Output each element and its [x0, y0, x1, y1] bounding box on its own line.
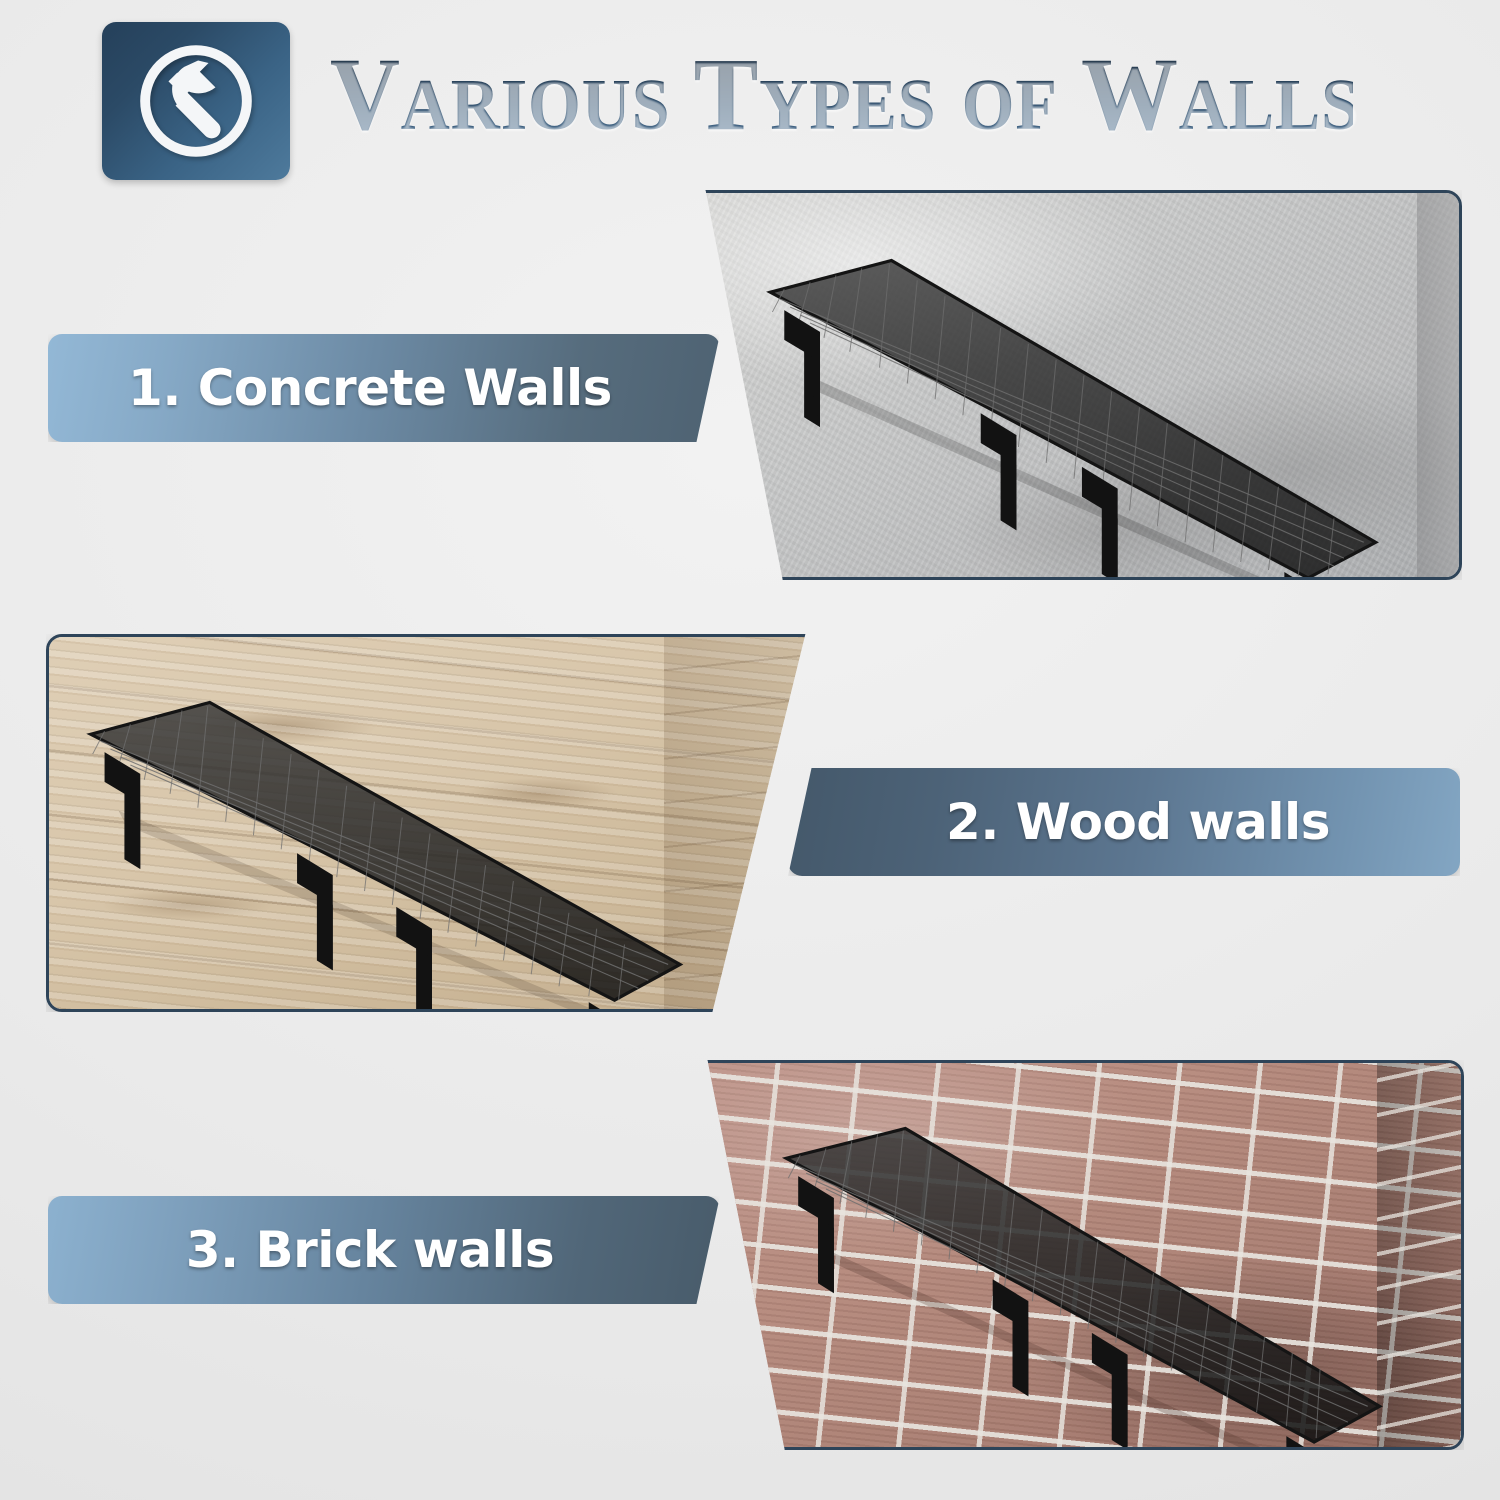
wrench-in-circle-icon	[134, 39, 258, 163]
section-label-wood-walls[interactable]: 2. Wood walls	[788, 768, 1460, 876]
wire-shelf-illustration-concrete	[693, 193, 1459, 580]
section-label-brick-walls[interactable]: 3. Brick walls	[48, 1196, 720, 1304]
panel-frame-concrete	[690, 190, 1462, 580]
section-label-text: 2. Wood walls	[788, 793, 1460, 851]
section-label-text: 3. Brick walls	[48, 1221, 720, 1279]
panel-frame-brick	[692, 1060, 1464, 1450]
page-title: Various Types of Walls	[330, 36, 1353, 156]
wire-shelf-illustration-wood	[49, 637, 818, 1012]
photo-panel-concrete-wall	[690, 190, 1462, 580]
photo-panel-wood-wall	[46, 634, 821, 1012]
section-label-concrete-walls[interactable]: 1. Concrete Walls	[48, 334, 720, 442]
page-header: Various Types of Walls	[0, 0, 1500, 195]
wrench-badge	[102, 22, 290, 180]
section-label-text: 1. Concrete Walls	[48, 359, 720, 417]
photo-panel-brick-wall	[692, 1060, 1464, 1450]
panel-frame-wood	[46, 634, 821, 1012]
wire-shelf-illustration-brick	[695, 1063, 1461, 1450]
